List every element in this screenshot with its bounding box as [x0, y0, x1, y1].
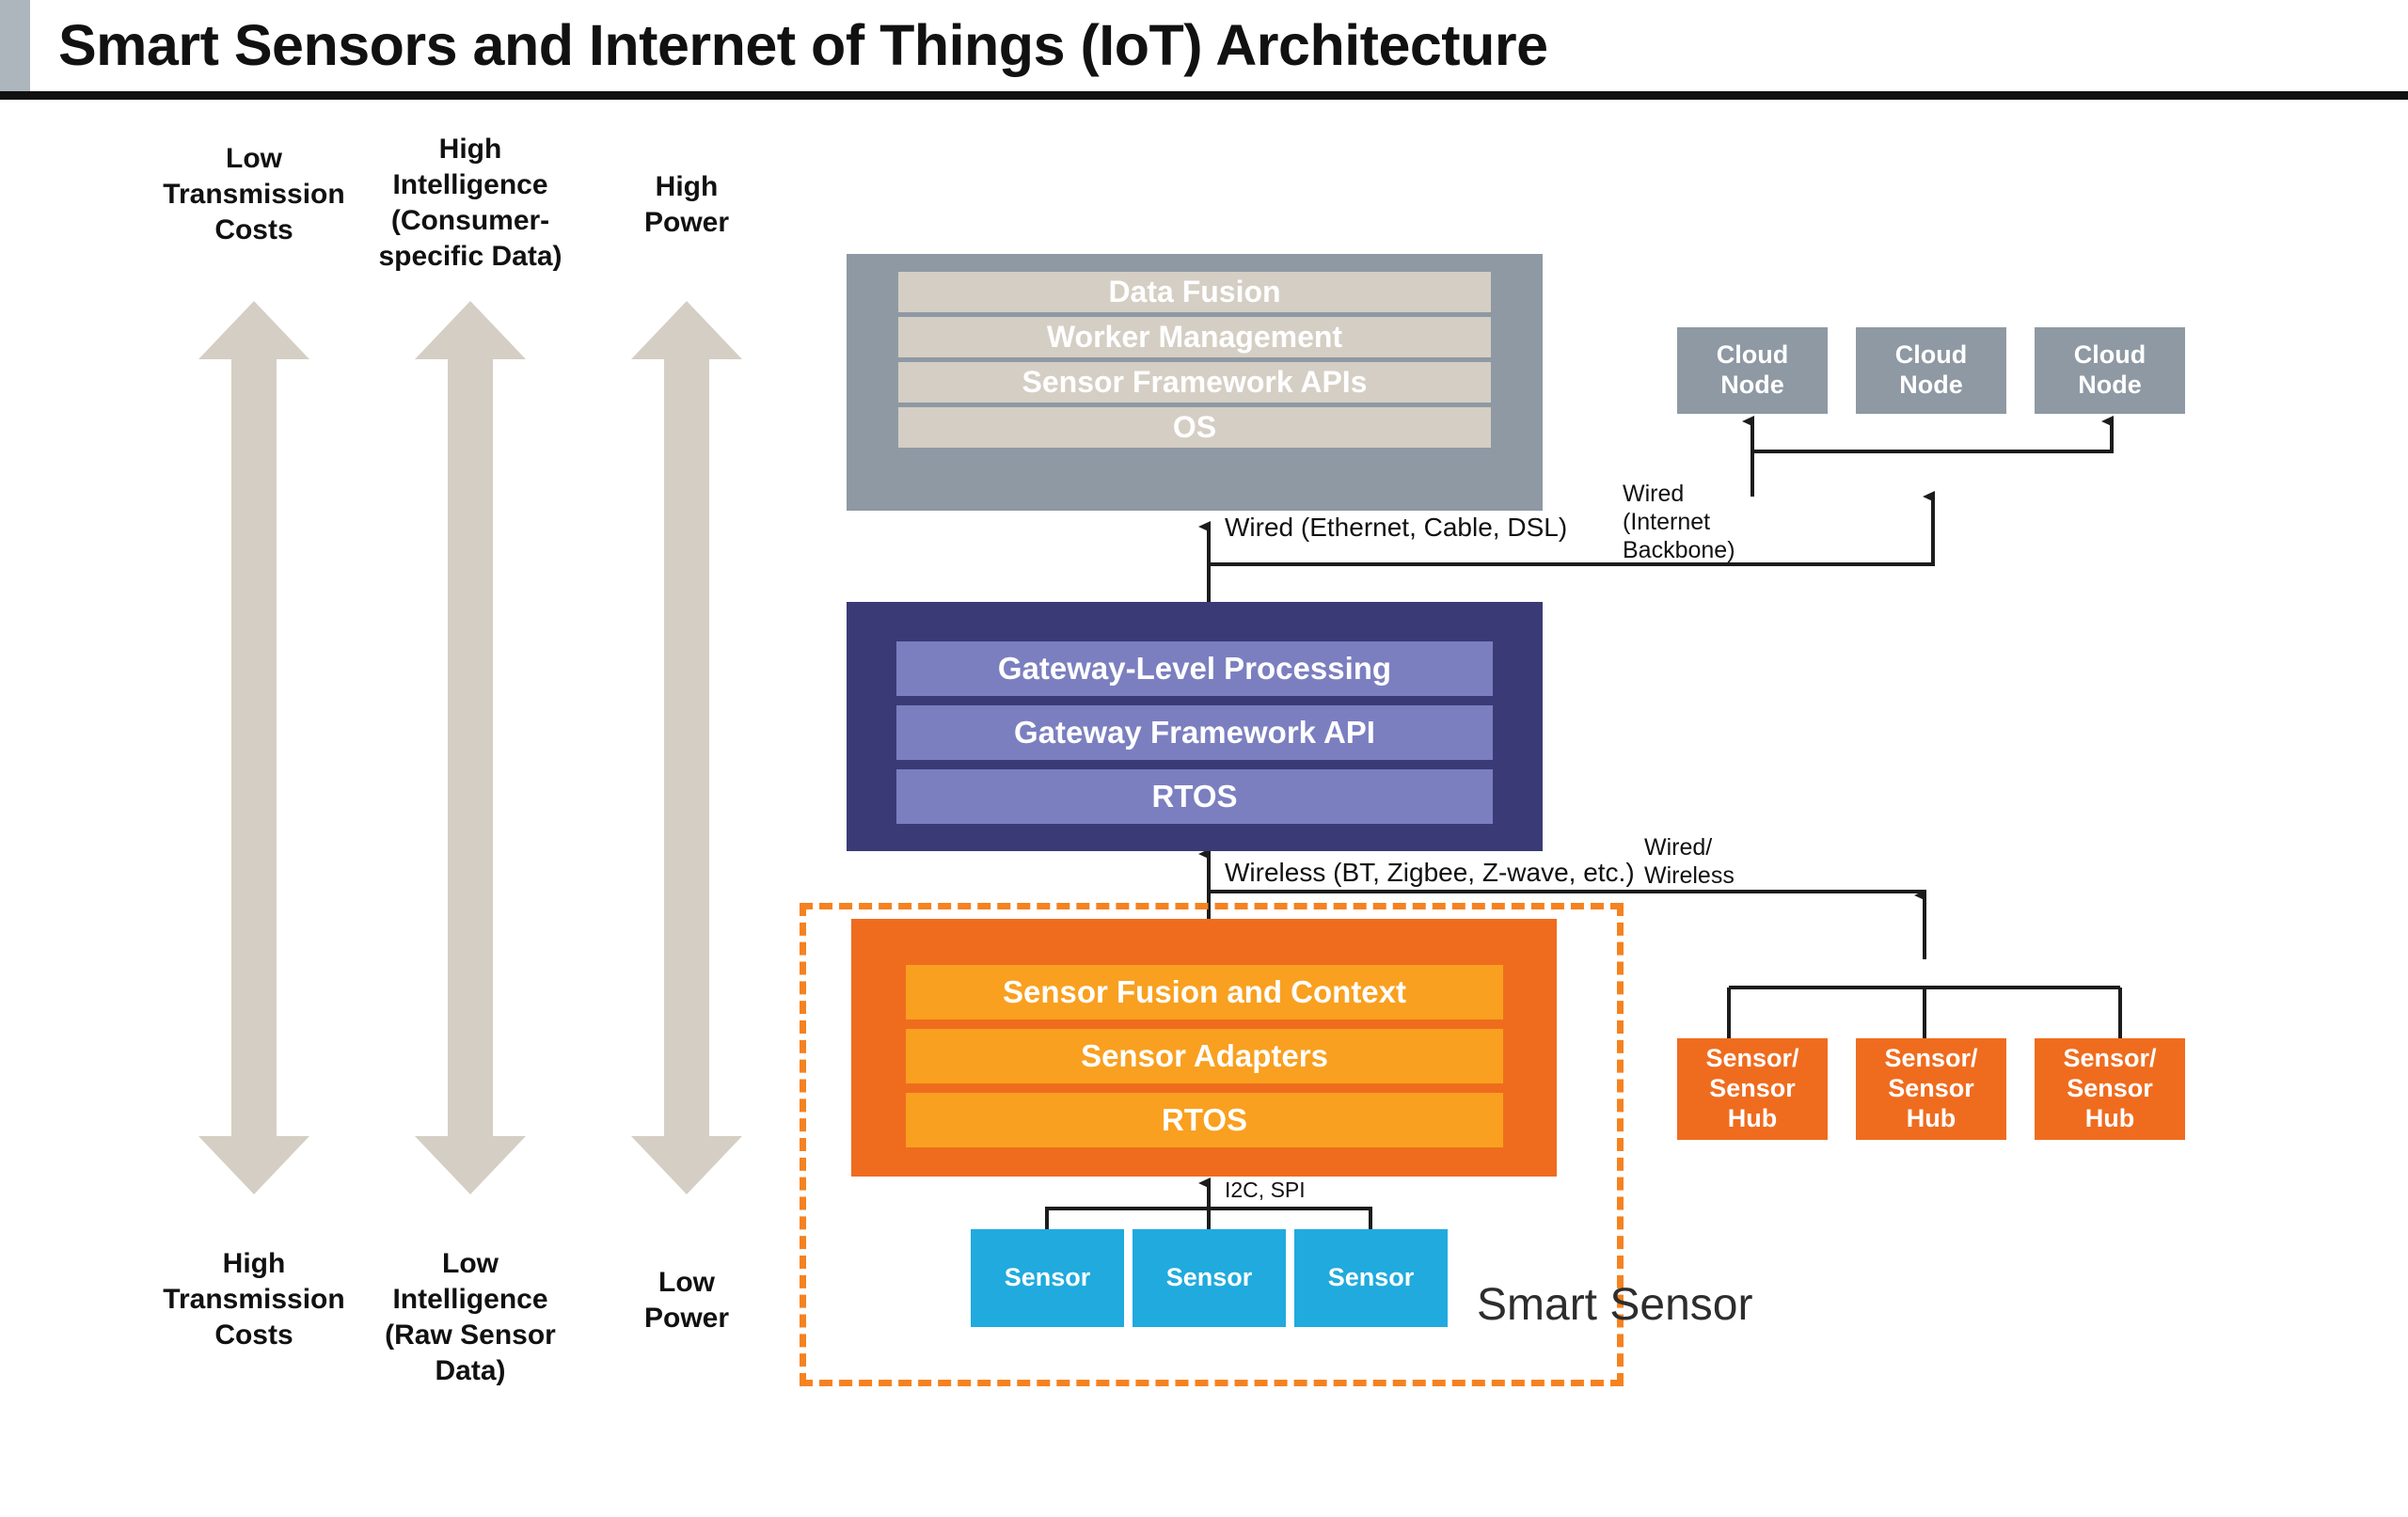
sensor-3-label: Sensor [1328, 1263, 1415, 1293]
axis-column-power-bottom: Low Power [564, 1265, 809, 1336]
gateway-band-processing[interactable]: Gateway-Level Processing [896, 641, 1493, 696]
cloud-node-2[interactable]: Cloud Node [1856, 327, 2006, 414]
sensor-hub-3-label: Sensor/ Sensor Hub [2063, 1044, 2156, 1134]
axis-bottom-label-3: Low Power [564, 1265, 809, 1336]
header-accent-bar [0, 0, 30, 91]
axis-bottom-label-2: Low Intelligence (Raw Sensor Data) [348, 1246, 593, 1389]
label-wired-internet-backbone: Wired (Internet Backbone) [1623, 480, 1735, 564]
smart-sensor-stack: Sensor Fusion and Context Sensor Adapter… [851, 919, 1557, 1177]
axis-arrow-transmission-costs [198, 301, 309, 1194]
gateway-stack: Gateway-Level Processing Gateway Framewo… [847, 602, 1543, 851]
sensor-hub-1[interactable]: Sensor/ Sensor Hub [1677, 1038, 1828, 1140]
gateway-band-framework-api[interactable]: Gateway Framework API [896, 705, 1493, 760]
page-title: Smart Sensors and Internet of Things (Io… [58, 8, 2128, 83]
sensor-1[interactable]: Sensor [971, 1229, 1124, 1327]
axis-top-label-3: High Power [564, 169, 809, 241]
sensor-1-label: Sensor [1005, 1263, 1091, 1293]
sensor-3[interactable]: Sensor [1294, 1229, 1448, 1327]
gateway-band-rtos[interactable]: RTOS [896, 769, 1493, 824]
cloud-band-sensor-framework-apis[interactable]: Sensor Framework APIs [898, 362, 1491, 403]
cloud-node-1-label: Cloud Node [1717, 340, 1788, 401]
axis-bottom-label-1: High Transmission Costs [132, 1246, 376, 1353]
cloud-node-2-label: Cloud Node [1895, 340, 1967, 401]
sensor-2[interactable]: Sensor [1133, 1229, 1286, 1327]
axis-arrow-power [631, 301, 742, 1194]
label-wired-wireless: Wired/ Wireless [1644, 833, 1735, 890]
cloud-server-stack: Data Fusion Worker Management Sensor Fra… [847, 254, 1543, 511]
label-wired-ethernet: Wired (Ethernet, Cable, DSL) [1225, 513, 1567, 543]
axis-arrow-intelligence [415, 301, 526, 1194]
axis-top-label-2: High Intelligence (Consumer- specific Da… [348, 132, 593, 275]
sensor-hub-2[interactable]: Sensor/ Sensor Hub [1856, 1038, 2006, 1140]
cloud-node-1[interactable]: Cloud Node [1677, 327, 1828, 414]
axis-column-transmission-costs-top: Low Transmission Costs [132, 141, 376, 248]
axis-column-power-top: High Power [564, 169, 809, 241]
sensor-hub-1-label: Sensor/ Sensor Hub [1705, 1044, 1798, 1134]
sensor-band-rtos[interactable]: RTOS [906, 1093, 1503, 1147]
sensor-hub-2-label: Sensor/ Sensor Hub [1884, 1044, 1977, 1134]
cloud-node-3-label: Cloud Node [2074, 340, 2146, 401]
sensor-band-adapters[interactable]: Sensor Adapters [906, 1029, 1503, 1083]
smart-sensor-caption: Smart Sensor [1477, 1279, 1752, 1331]
axis-column-intelligence-bottom: Low Intelligence (Raw Sensor Data) [348, 1246, 593, 1389]
sensor-band-fusion-context[interactable]: Sensor Fusion and Context [906, 965, 1503, 1019]
axis-top-label-1: Low Transmission Costs [132, 141, 376, 248]
header-divider [0, 91, 2408, 100]
axis-column-transmission-costs-bottom: High Transmission Costs [132, 1246, 376, 1353]
sensor-2-label: Sensor [1166, 1263, 1253, 1293]
label-wireless-bt: Wireless (BT, Zigbee, Z-wave, etc.) [1225, 858, 1635, 888]
page-header: Smart Sensors and Internet of Things (Io… [0, 0, 2408, 94]
cloud-band-data-fusion[interactable]: Data Fusion [898, 272, 1491, 312]
cloud-node-3[interactable]: Cloud Node [2035, 327, 2185, 414]
sensor-hub-3[interactable]: Sensor/ Sensor Hub [2035, 1038, 2185, 1140]
label-i2c-spi: I2C, SPI [1225, 1177, 1306, 1202]
cloud-band-os[interactable]: OS [898, 407, 1491, 448]
cloud-band-worker-management[interactable]: Worker Management [898, 317, 1491, 357]
axis-column-intelligence-top: High Intelligence (Consumer- specific Da… [348, 132, 593, 275]
